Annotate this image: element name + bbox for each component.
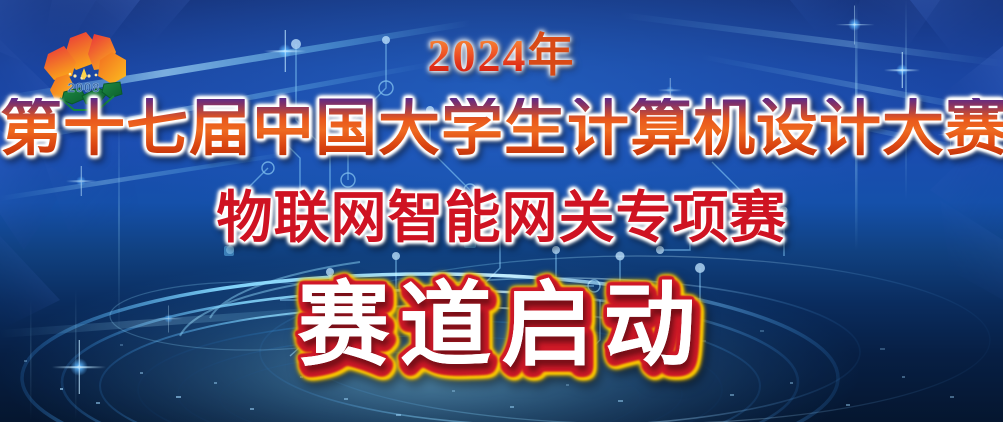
year-line: 2024年 bbox=[0, 32, 1003, 79]
banner-text-content: 2024年 第十七届中国大学生计算机设计大赛 物联网智能网关专项赛 赛道启动 bbox=[0, 0, 1003, 422]
year-number: 2024 bbox=[428, 30, 528, 81]
cta-title: 赛道启动 bbox=[0, 280, 1003, 372]
main-title: 第十七届中国大学生计算机设计大赛 bbox=[0, 98, 1003, 160]
competition-banner: 2008 2024年 第十七届中国大学生计算机设计大赛 物联网智能网关专项赛 赛… bbox=[0, 0, 1003, 422]
sub-title: 物联网智能网关专项赛 bbox=[0, 190, 1003, 246]
year-unit: 年 bbox=[528, 29, 576, 81]
